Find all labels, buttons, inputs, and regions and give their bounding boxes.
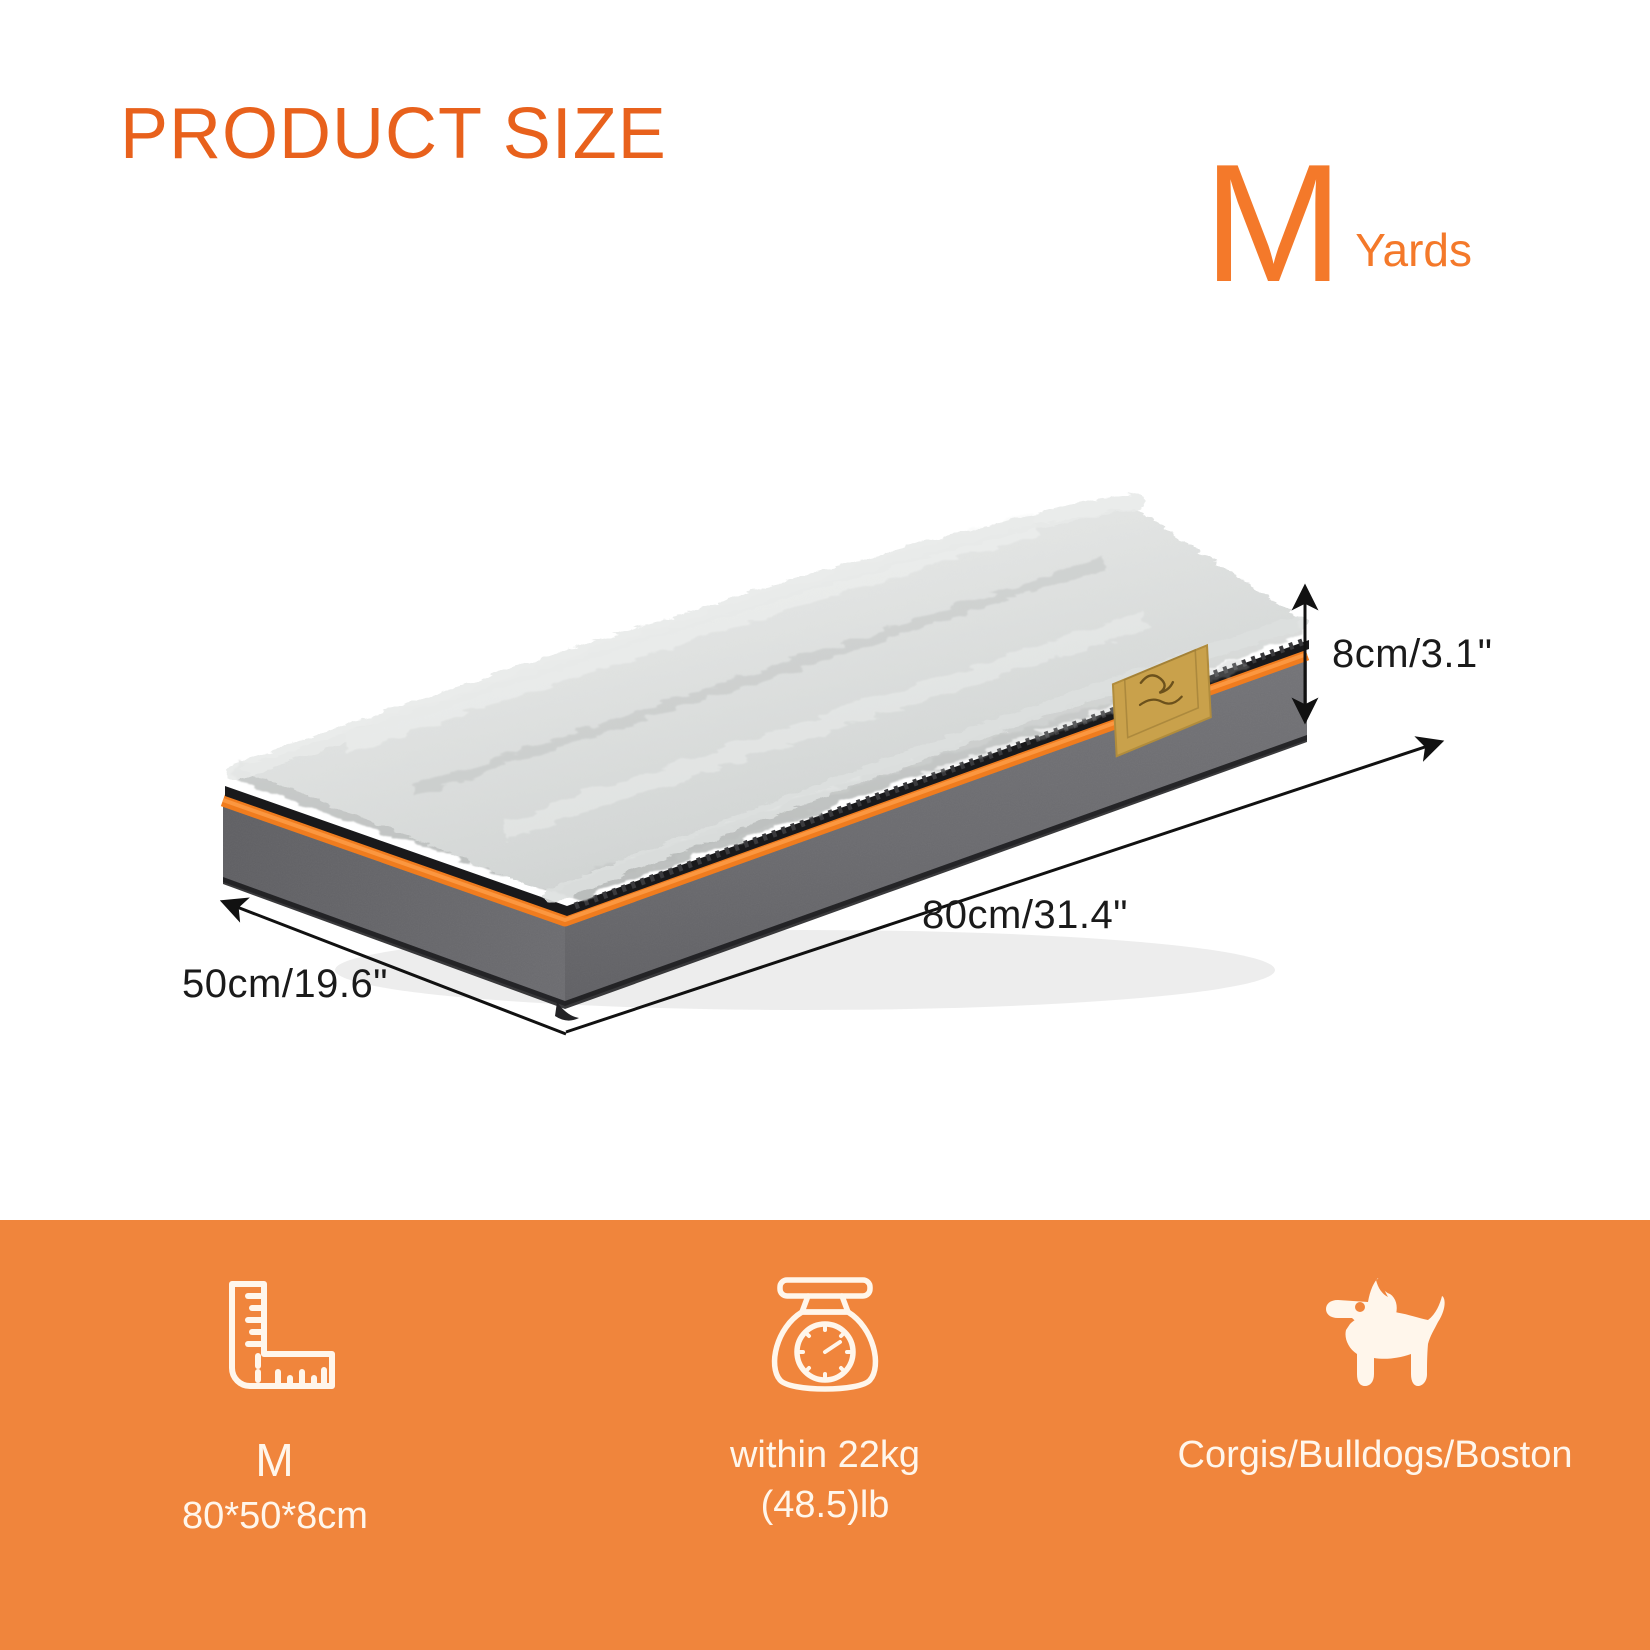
size-code-label: M — [182, 1430, 368, 1491]
weight-kg-label: within 22kg — [730, 1430, 920, 1480]
depth-dimension-label: 50cm/19.6" — [182, 962, 388, 1007]
spec-column-weight: within 22kg (48.5)lb — [550, 1220, 1100, 1650]
pet-bed-graphic — [205, 450, 1325, 1050]
pet-bed-svg — [205, 450, 1325, 1050]
size-dimensions-label: 80*50*8cm — [182, 1491, 368, 1541]
scale-icon — [750, 1262, 900, 1412]
ruler-icon — [200, 1262, 350, 1412]
spec-column-size: M 80*50*8cm — [0, 1220, 550, 1650]
size-unit-label: Yards — [1355, 227, 1472, 289]
spec-banner: M 80*50*8cm — [0, 1220, 1650, 1650]
dog-icon — [1290, 1262, 1460, 1412]
spec-column-breeds-text: Corgis/Bulldogs/Boston — [1178, 1430, 1573, 1480]
product-illustration — [0, 430, 1650, 1110]
breeds-label: Corgis/Bulldogs/Boston — [1178, 1430, 1573, 1480]
spec-column-breeds: Corgis/Bulldogs/Boston — [1100, 1220, 1650, 1650]
size-letter: M — [1203, 158, 1341, 289]
dog-silhouette — [1290, 1262, 1460, 1412]
spec-column-weight-text: within 22kg (48.5)lb — [730, 1430, 920, 1530]
product-size-infographic: PRODUCT SIZE M Yards — [0, 0, 1650, 1650]
weight-lb-label: (48.5)lb — [730, 1480, 920, 1530]
spec-column-size-text: M 80*50*8cm — [182, 1430, 368, 1541]
size-badge: M Yards — [1203, 158, 1472, 289]
height-dimension-label: 8cm/3.1" — [1332, 632, 1492, 677]
page-title: PRODUCT SIZE — [120, 98, 667, 170]
length-dimension-label: 80cm/31.4" — [922, 893, 1128, 938]
